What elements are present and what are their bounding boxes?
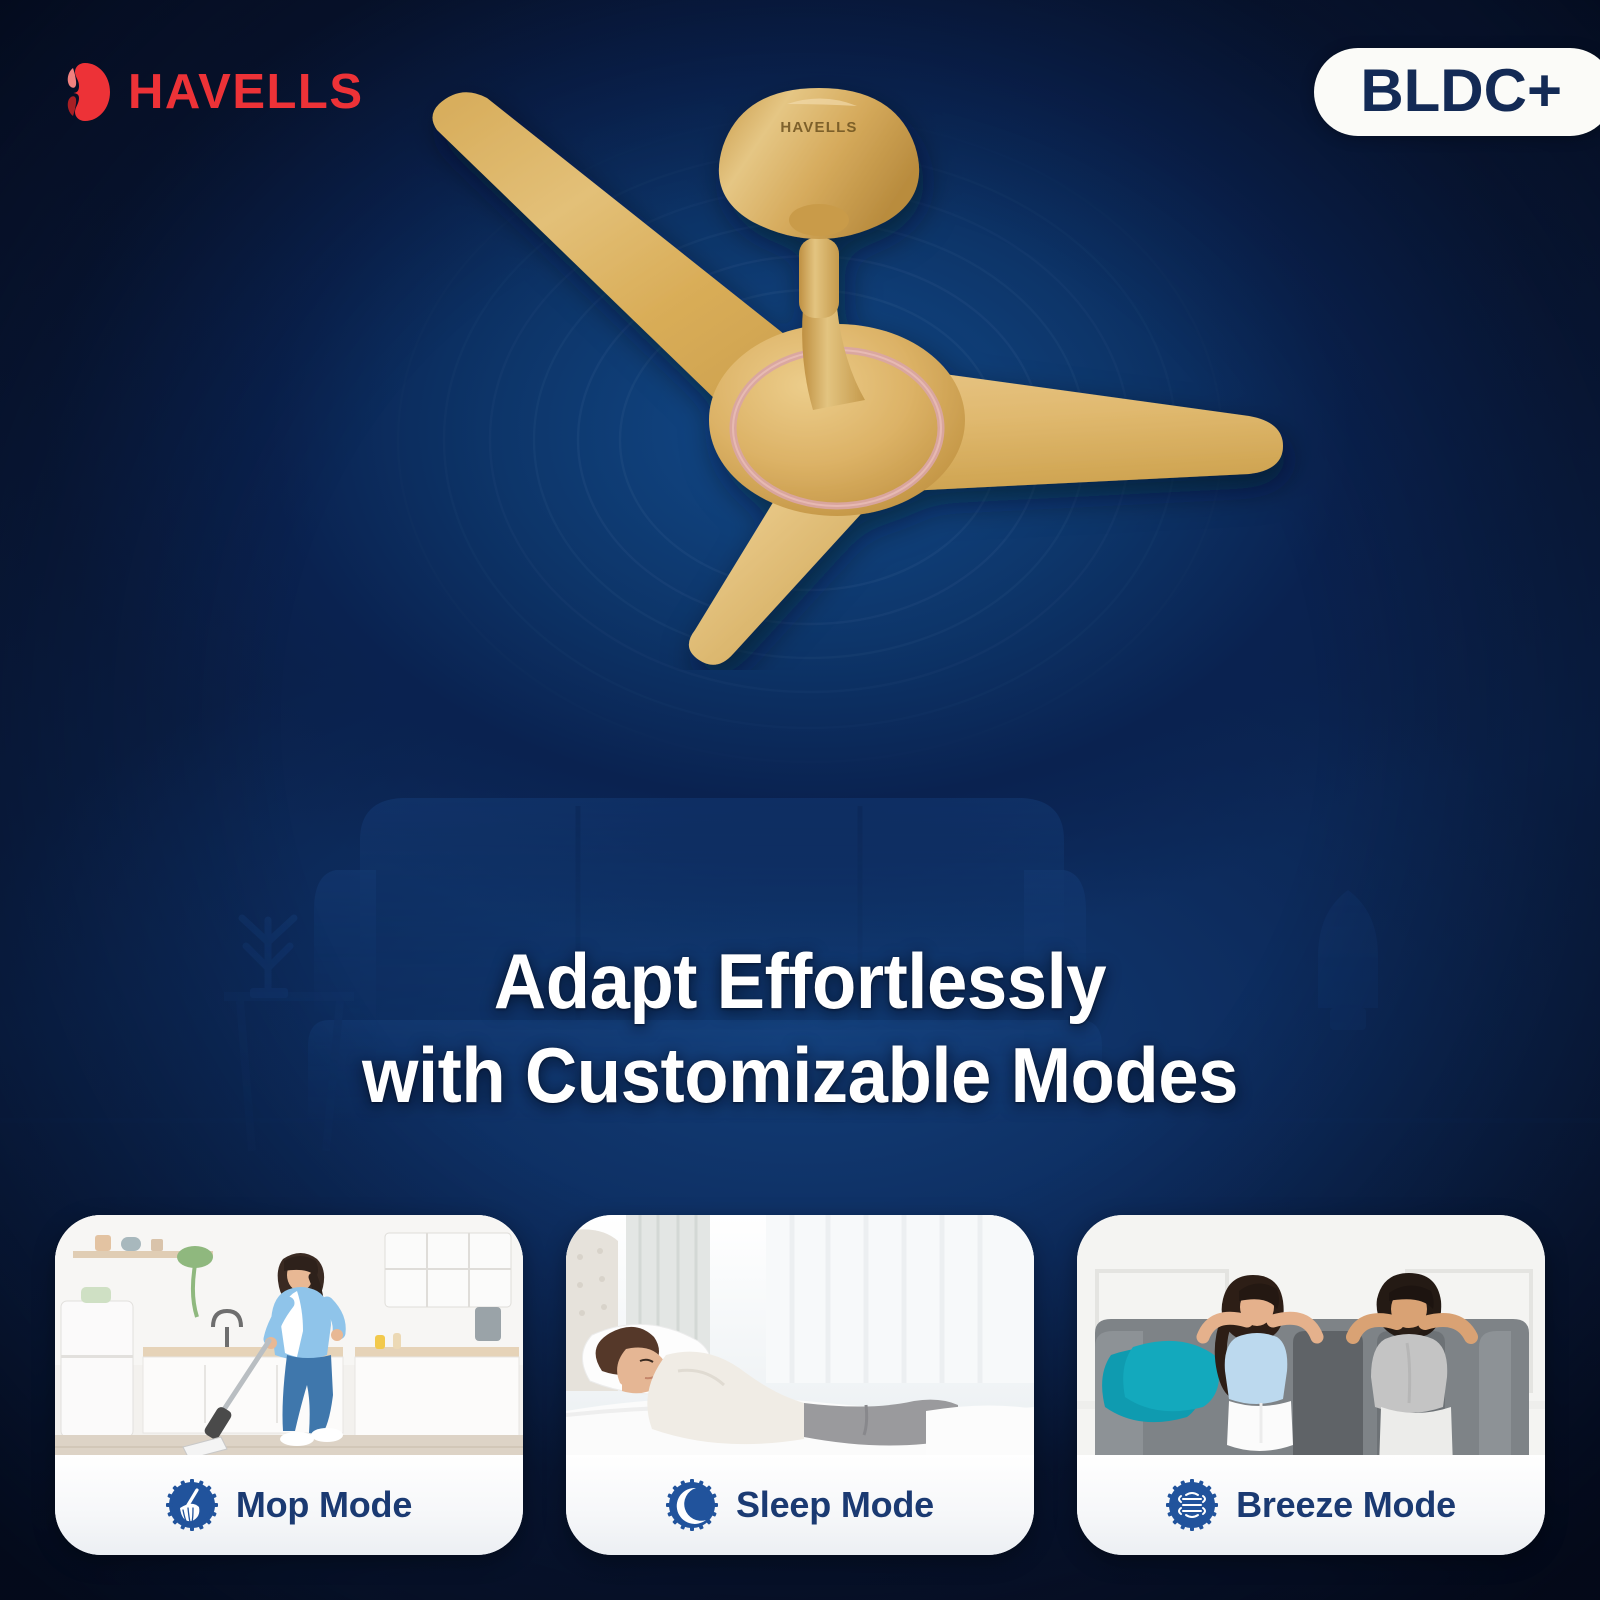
svg-text:HAVELLS: HAVELLS [780,119,857,136]
mode-label-row-sleep: Sleep Mode [566,1455,1034,1555]
crescent-moon-gear-icon [666,1479,718,1531]
mop-gear-icon [166,1479,218,1531]
mode-card-sleep[interactable]: Sleep Mode [566,1215,1034,1555]
mode-card-mop[interactable]: Mop Mode [55,1215,523,1555]
promo-banner: HAVELLS HAVELLS BLDC+ Adapt Effortlessly… [0,0,1600,1600]
couple-relaxing-sofa-photo [1077,1215,1545,1467]
bldc-plus-label: BLDC+ [1360,60,1562,122]
woman-mopping-kitchen-photo [55,1215,523,1467]
page-title: Adapt Effortlessly with Customizable Mod… [56,935,1544,1122]
mode-label-row-breeze: Breeze Mode [1077,1455,1545,1555]
mode-label-sleep: Sleep Mode [736,1484,934,1526]
mode-label-row-mop: Mop Mode [55,1455,523,1555]
havells-logo: HAVELLS [58,62,364,122]
mode-label-breeze: Breeze Mode [1236,1484,1456,1526]
mode-label-mop: Mop Mode [236,1484,412,1526]
woman-sleeping-bed-photo [566,1215,1034,1467]
havells-wordmark: HAVELLS [128,68,364,117]
bldc-plus-badge: BLDC+ [1314,48,1600,136]
ceiling-fan-icon: HAVELLS [395,70,1325,670]
breeze-gear-icon [1166,1479,1218,1531]
havells-mark-icon [58,62,112,122]
mode-card-list: Mop Mode [55,1215,1545,1560]
headline-line-2: with Customizable Modes [56,1029,1544,1123]
mode-card-breeze[interactable]: Breeze Mode [1077,1215,1545,1555]
headline-line-1: Adapt Effortlessly [494,937,1106,1025]
